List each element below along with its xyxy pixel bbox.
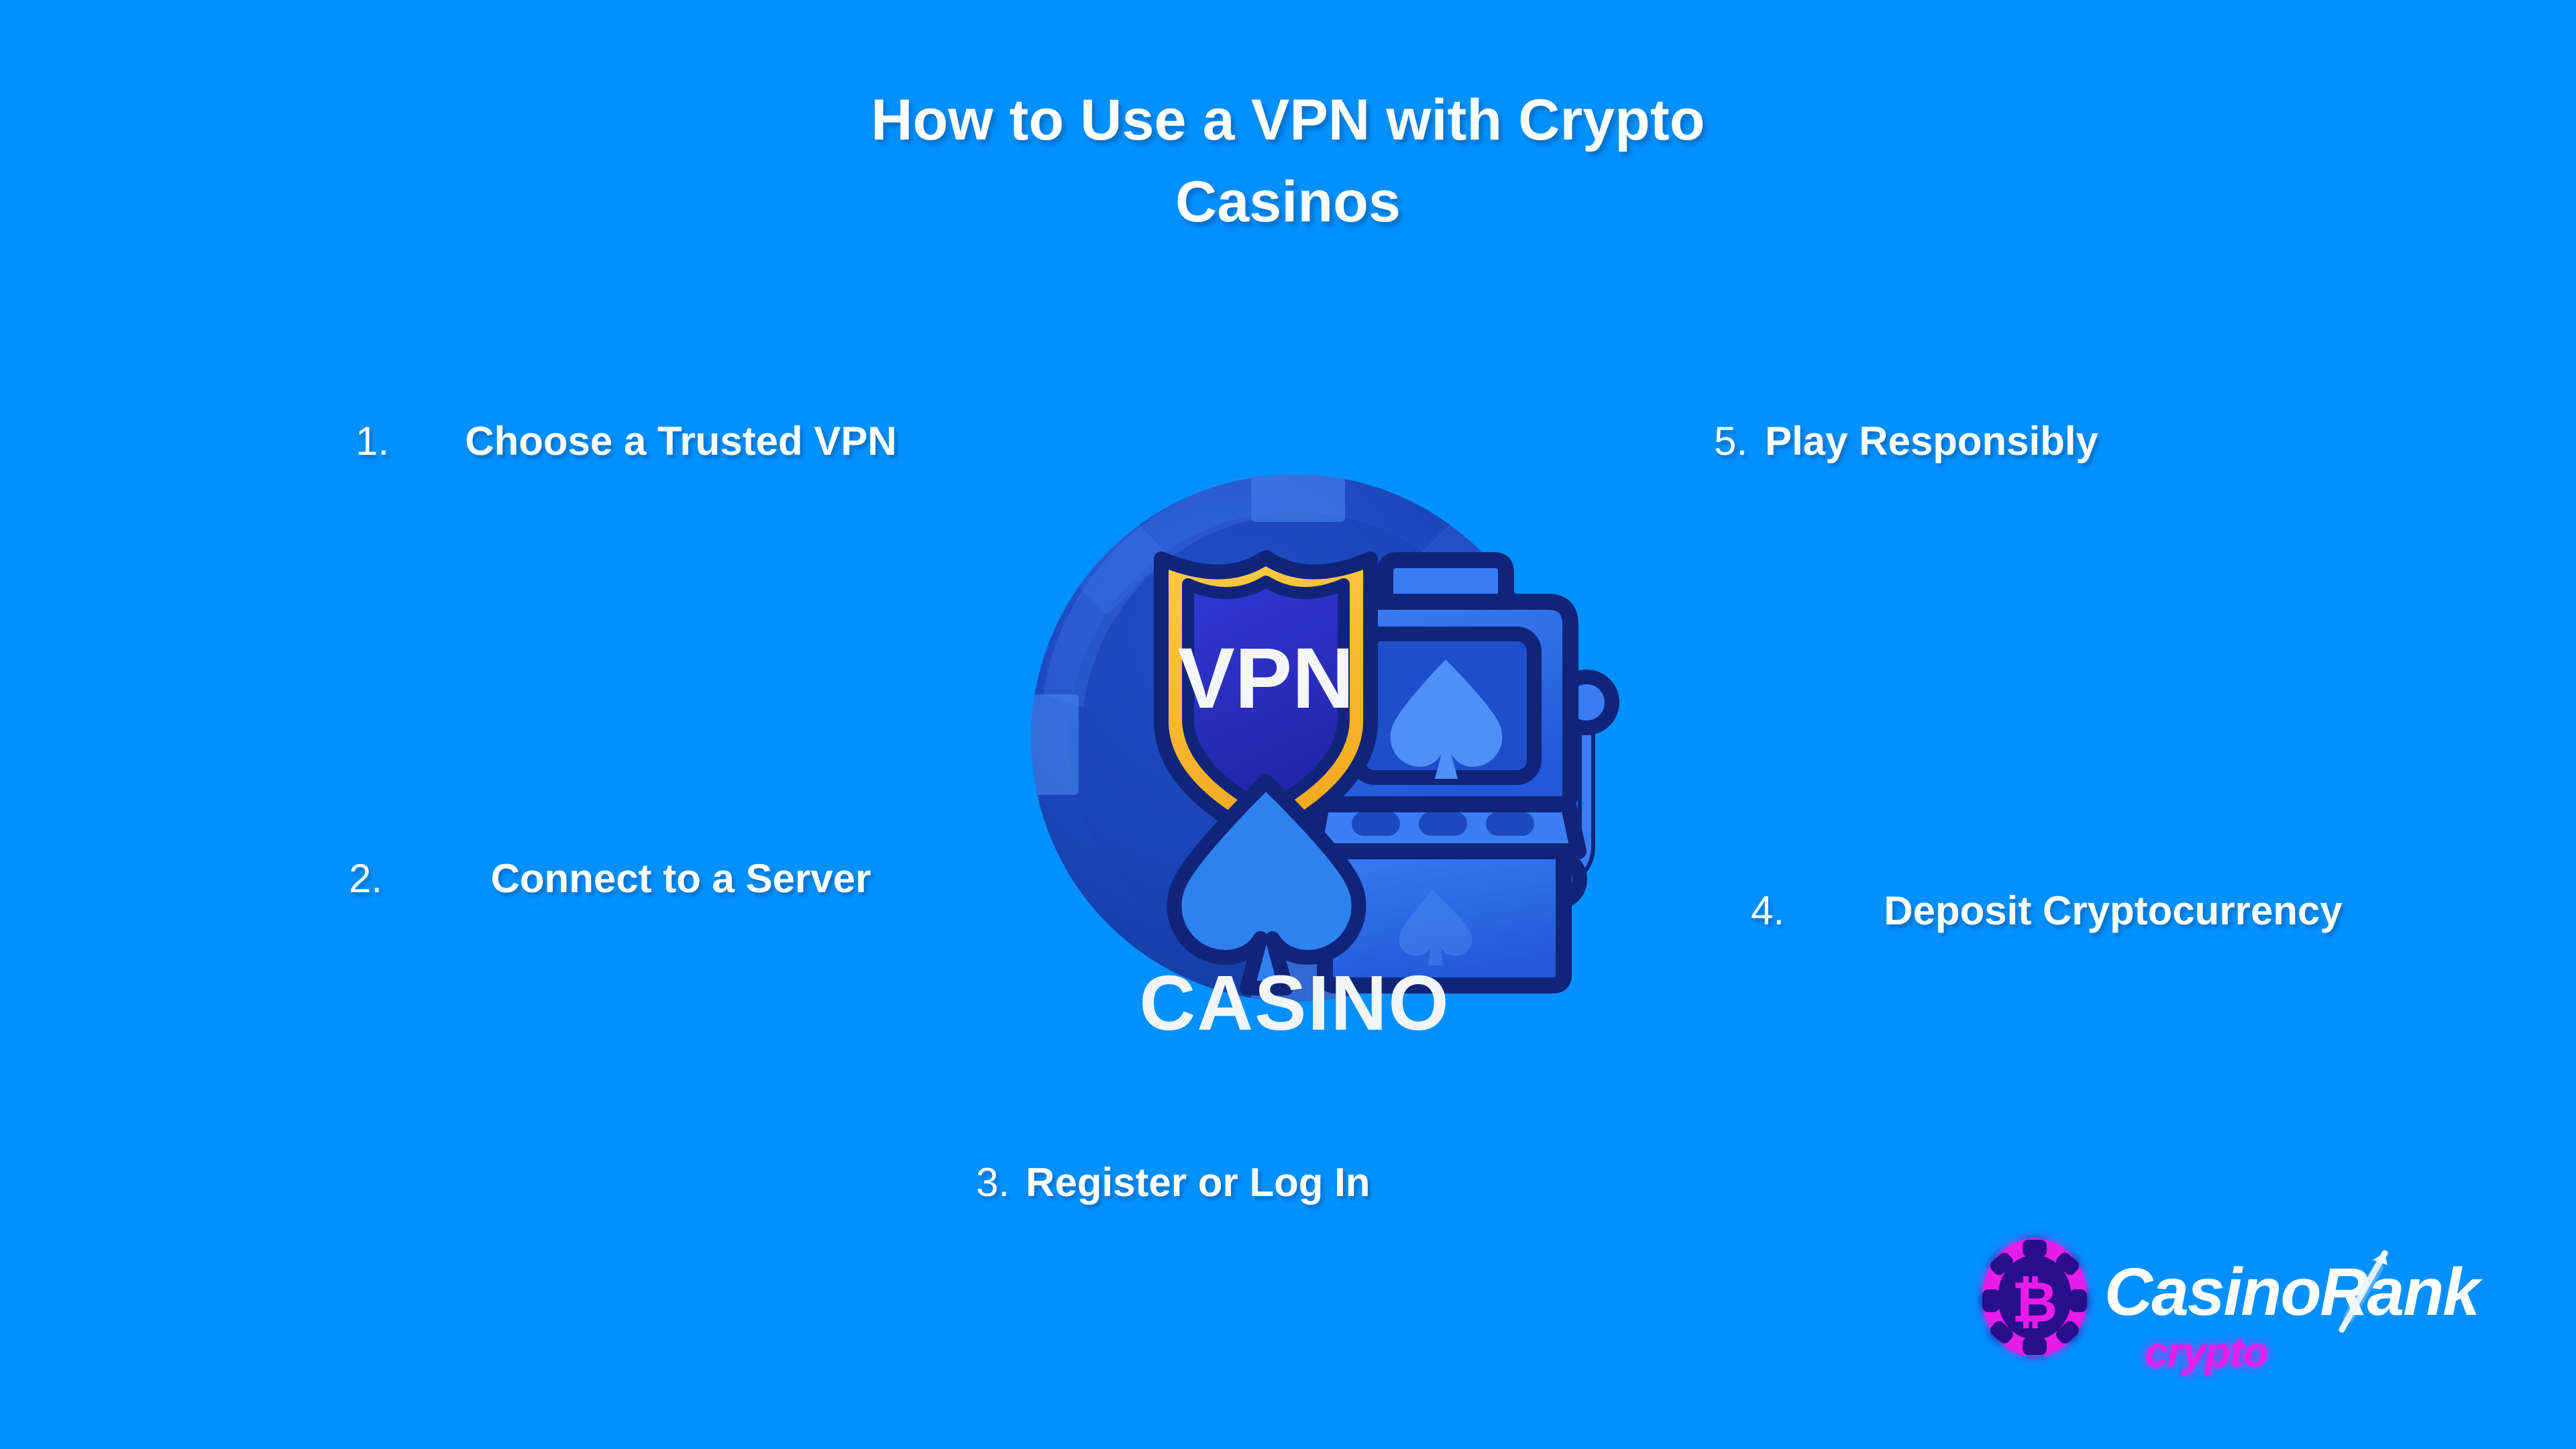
step-label-4: Deposit Cryptocurrency bbox=[1858, 885, 2368, 937]
step-number-5: 5. bbox=[1714, 416, 1748, 468]
infographic-canvas: How to Use a VPN with Crypto Casinos 1. … bbox=[0, 0, 2576, 1449]
page-title-line-2: Casinos bbox=[698, 161, 1878, 243]
chip-casino-text: CASINO bbox=[1139, 959, 1450, 1046]
shield-vpn-text: VPN bbox=[1177, 631, 1354, 727]
step-item-3: 3. Register or Log In bbox=[976, 1157, 1620, 1209]
step-item-2: 2. Connect to a Server bbox=[228, 853, 939, 905]
step-number-3: 3. bbox=[976, 1157, 1010, 1209]
casinorank-crypto-logo[interactable]: ₿ CasinoRank crypto bbox=[1976, 1229, 2526, 1380]
step-item-1: 1. Choose a Trusted VPN bbox=[282, 416, 939, 468]
step-number-4: 4. bbox=[1751, 885, 1784, 937]
logo-brand-text: CasinoRank bbox=[2104, 1254, 2483, 1330]
bitcoin-chip-icon: ₿ bbox=[1982, 1238, 2087, 1356]
step-label-5: Play Responsibly bbox=[1765, 416, 2098, 468]
step-item-4: 4. Deposit Cryptocurrency bbox=[1751, 885, 2442, 937]
step-label-2: Connect to a Server bbox=[423, 853, 939, 905]
page-title: How to Use a VPN with Crypto Casinos bbox=[698, 79, 1878, 243]
step-label-3: Register or Log In bbox=[1026, 1157, 1370, 1209]
step-label-1: Choose a Trusted VPN bbox=[423, 416, 939, 468]
vpn-casino-illustration: VPN CASINO bbox=[963, 406, 1627, 1070]
bitcoin-symbol: ₿ bbox=[2012, 1271, 2057, 1334]
step-number-2: 2. bbox=[349, 853, 382, 905]
logo-tagline-text: crypto bbox=[2145, 1330, 2267, 1376]
page-title-line-1: How to Use a VPN with Crypto bbox=[698, 79, 1878, 161]
step-number-1: 1. bbox=[356, 416, 389, 468]
step-item-5: 5. Play Responsibly bbox=[1714, 416, 2425, 468]
